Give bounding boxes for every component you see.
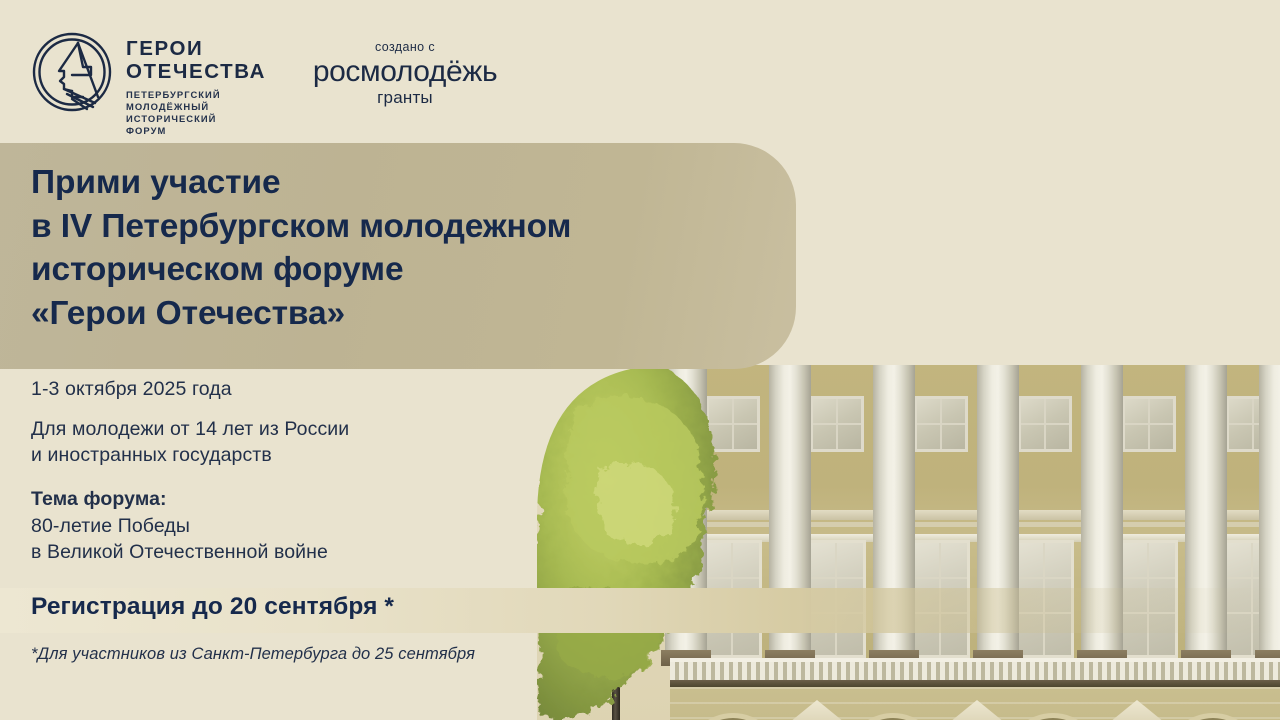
- partner-name: росмолодёжь: [290, 56, 520, 88]
- upper-window: [1122, 396, 1176, 452]
- forum-logo-title: ГЕРОИ ОТЕЧЕСТВА: [126, 37, 266, 84]
- page-title: Прими участие в IV Петербургском молодеж…: [31, 161, 791, 336]
- registration-deadline: Регистрация до 20 сентября *: [31, 593, 394, 621]
- forum-logo-text: ГЕРОИ ОТЕЧЕСТВА ПЕТЕРБУРГСКИЙ МОЛОДЁЖНЫЙ…: [126, 31, 266, 137]
- pediment-cornice: [846, 306, 1236, 313]
- double-headed-eagle-icon: [982, 258, 1098, 314]
- soldier-head-circle-icon: [31, 31, 113, 113]
- forum-logo-subtitle: ПЕТЕРБУРГСКИЙ МОЛОДЁЖНЫЙ ИСТОРИЧЕСКИЙ ФО…: [126, 89, 266, 137]
- pediment-cornice-upper: [840, 240, 1240, 312]
- theme-value: 80-летие Победы в Великой Отечественной …: [31, 514, 551, 566]
- event-dates: 1-3 октября 2025 года: [31, 378, 551, 401]
- column-capital: [864, 338, 924, 364]
- column-capital: [1250, 338, 1280, 364]
- target-audience: Для молодежи от 14 лет из России и иност…: [31, 417, 551, 469]
- partner-logo: создано с росмолодёжь гранты: [290, 40, 520, 108]
- theme-label: Тема форума:: [31, 488, 551, 511]
- pediment: [850, 235, 1230, 313]
- partner-post-label: гранты: [290, 88, 520, 108]
- column-capital: [1176, 338, 1236, 364]
- logo-bar: ГЕРОИ ОТЕЧЕСТВА ПЕТЕРБУРГСКИЙ МОЛОДЁЖНЫЙ…: [0, 0, 540, 143]
- poster-root: ГЕРОИ ОТЕЧЕСТВА ПЕТЕРБУРГСКИЙ МОЛОДЁЖНЫЙ…: [0, 0, 1280, 720]
- upper-window: [914, 396, 968, 452]
- column-capital: [1072, 338, 1132, 364]
- tree-foliage-icon: [520, 340, 850, 720]
- info-block: 1-3 октября 2025 года Для молодежи от 14…: [31, 378, 551, 566]
- pediment-garland: [856, 282, 1228, 306]
- partner-pre-label: создано с: [290, 40, 520, 54]
- forum-logo: ГЕРОИ ОТЕЧЕСТВА ПЕТЕРБУРГСКИЙ МОЛОДЁЖНЫЙ…: [31, 31, 266, 137]
- upper-window: [1018, 396, 1072, 452]
- registration-footnote: *Для участников из Санкт-Петербурга до 2…: [31, 645, 475, 664]
- column-capital: [968, 338, 1028, 364]
